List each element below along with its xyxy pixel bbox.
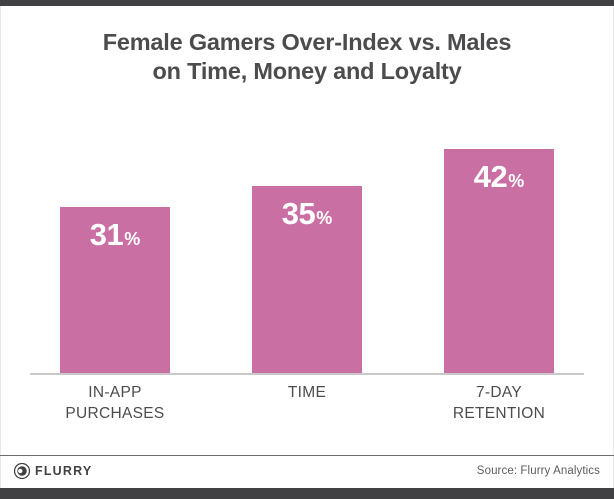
bar-group: 31% 35% 42% xyxy=(30,95,584,373)
x-axis-label-in-app-purchases-line-1: IN-APP xyxy=(30,382,200,403)
bar-7-day-retention: 42% xyxy=(444,149,554,374)
chart-title-line-2: on Time, Money and Loyalty xyxy=(0,57,614,86)
top-rail xyxy=(0,0,614,6)
chart-canvas: Female Gamers Over-Index vs. Males on Ti… xyxy=(0,0,614,499)
chart-title: Female Gamers Over-Index vs. Males on Ti… xyxy=(0,28,614,86)
x-axis-label-time: TIME xyxy=(222,382,392,403)
bar-value-unit-7-day-retention: % xyxy=(508,171,524,191)
brand-name: FLURRY xyxy=(35,464,92,478)
bar-in-app-purchases: 31% xyxy=(60,207,170,373)
bar-slot-in-app-purchases: 31% xyxy=(60,207,170,373)
x-axis-label-in-app-purchases-line-2: PURCHASES xyxy=(30,403,200,424)
plot-area: 31% 35% 42% xyxy=(30,95,584,375)
bar-slot-7-day-retention: 42% xyxy=(444,149,554,374)
bar-value-number-time: 35 xyxy=(282,196,315,231)
x-axis-line xyxy=(30,373,584,375)
x-axis-label-7-day-retention-line-2: RETENTION xyxy=(414,403,584,424)
x-axis-tick-labels: IN-APP PURCHASES TIME 7-DAY RETENTION xyxy=(30,382,584,440)
bar-value-unit-in-app-purchases: % xyxy=(124,229,140,249)
footer: FLURRY Source: Flurry Analytics xyxy=(0,456,614,488)
chart-title-line-1: Female Gamers Over-Index vs. Males xyxy=(0,28,614,57)
bar-value-label-time: 35% xyxy=(252,196,362,232)
brand-logo: FLURRY xyxy=(14,463,92,479)
bottom-rail xyxy=(0,488,614,499)
x-axis-label-in-app-purchases: IN-APP PURCHASES xyxy=(30,382,200,424)
bar-time: 35% xyxy=(252,186,362,373)
bar-value-label-in-app-purchases: 31% xyxy=(60,217,170,253)
bar-value-label-7-day-retention: 42% xyxy=(444,159,554,195)
bar-value-unit-time: % xyxy=(316,208,332,228)
bar-value-number-7-day-retention: 42 xyxy=(474,159,507,194)
source-caption: Source: Flurry Analytics xyxy=(477,465,600,477)
flurry-circle-logo-icon xyxy=(14,463,30,479)
bar-slot-time: 35% xyxy=(252,186,362,373)
bar-value-number-in-app-purchases: 31 xyxy=(90,217,123,252)
x-axis-label-time-line-1: TIME xyxy=(222,382,392,403)
x-axis-label-7-day-retention: 7-DAY RETENTION xyxy=(414,382,584,424)
x-axis-label-7-day-retention-line-1: 7-DAY xyxy=(414,382,584,403)
